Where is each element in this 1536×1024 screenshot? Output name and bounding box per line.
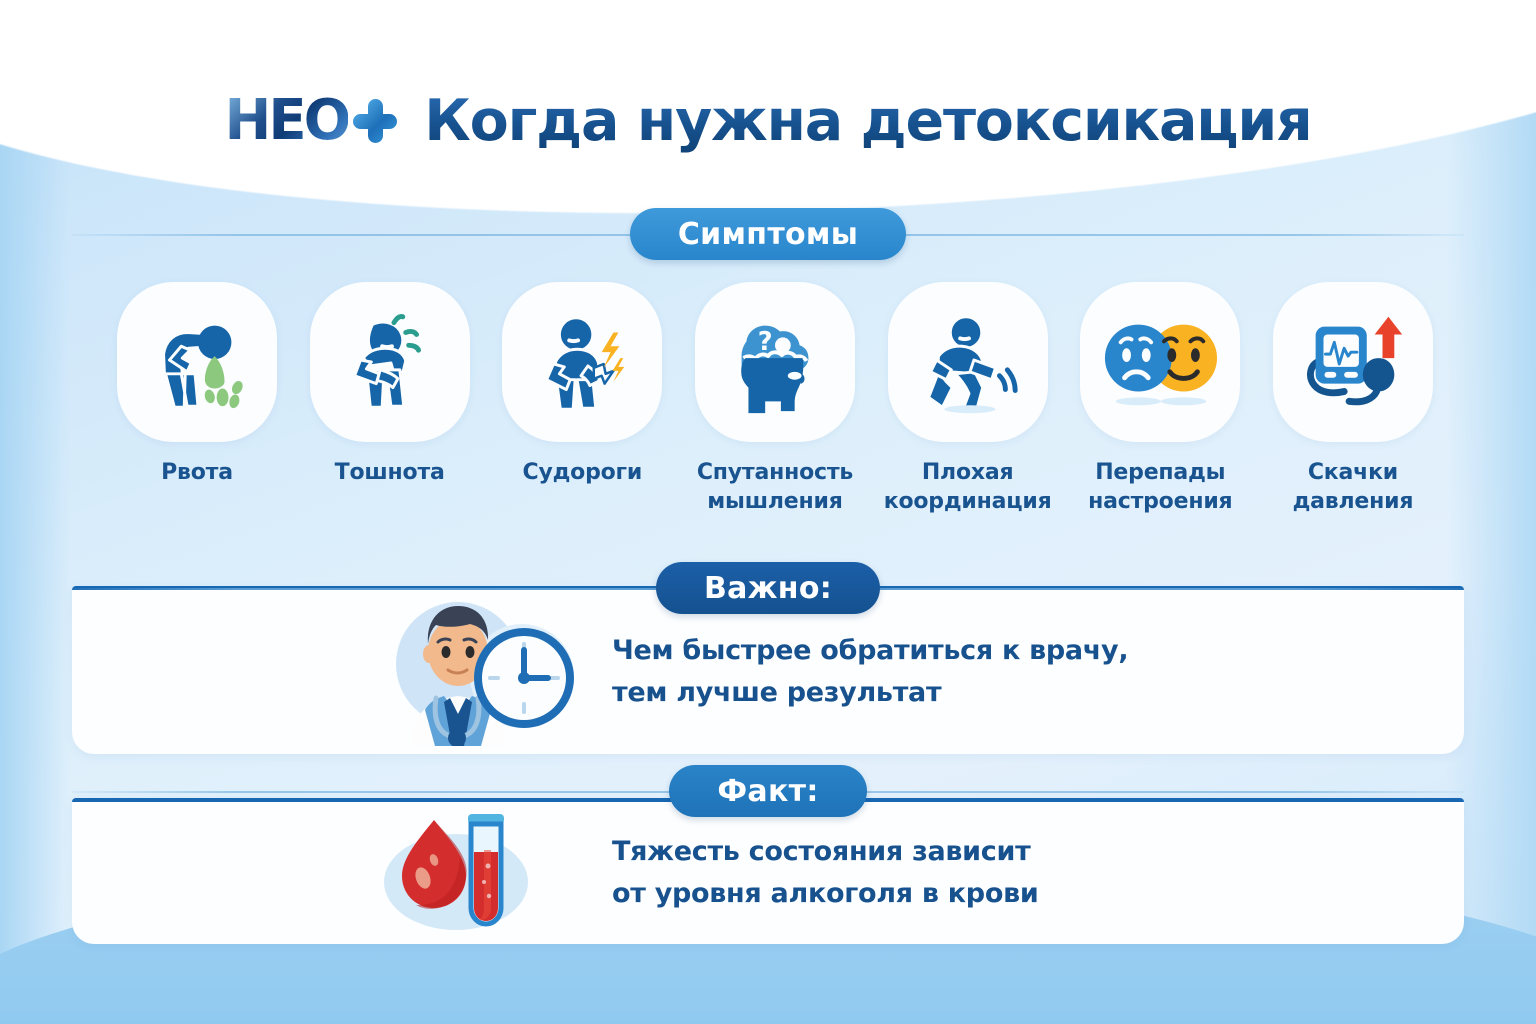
symptom-card — [888, 282, 1048, 442]
fact-panel-inner: Тяжесть состояния зависит от уровня алко… — [72, 802, 1464, 944]
brand-logo: НЕО — [225, 93, 399, 149]
symptom-label-line1: Плохая — [922, 460, 1014, 485]
symptom-item-confusion[interactable]: ? Спутанность мышления — [688, 282, 862, 516]
symptom-label-line2: настроения — [1088, 489, 1232, 514]
symptom-card — [117, 282, 277, 442]
plus-icon — [352, 98, 398, 144]
blood-pressure-monitor-icon — [1294, 303, 1412, 421]
symptom-item-coordination[interactable]: Плохая координация — [881, 282, 1055, 516]
symptom-item-vomiting[interactable]: Рвота — [110, 282, 284, 516]
symptom-label-line1: Скачки — [1308, 460, 1398, 485]
symptom-label-line2: мышления — [707, 489, 842, 514]
important-section-head: Важно: — [72, 562, 1464, 614]
symptom-item-nausea[interactable]: Тошнота — [303, 282, 477, 516]
symptoms-list: Рвота Тошнота — [110, 282, 1440, 516]
symptom-label: Тошнота — [335, 458, 445, 487]
poor-coordination-icon — [909, 303, 1027, 421]
fact-panel: Тяжесть состояния зависит от уровня алко… — [72, 798, 1464, 944]
symptom-label-line2: координация — [884, 489, 1052, 514]
important-panel-inner: Чем быстрее обратиться к врачу, тем лучш… — [72, 590, 1464, 754]
fact-text-line1: Тяжесть состояния зависит — [612, 831, 1038, 873]
symptom-item-cramps[interactable]: Судороги — [495, 282, 669, 516]
symptom-label-line1: Перепады — [1095, 460, 1225, 485]
symptom-label-line2: давления — [1293, 489, 1414, 514]
symptom-card — [1080, 282, 1240, 442]
symptom-label: Судороги — [523, 458, 643, 487]
blood-drop-test-tube-icon — [372, 804, 552, 944]
important-text: Чем быстрее обратиться к врачу, тем лучш… — [612, 630, 1128, 714]
confused-head-icon: ? — [716, 303, 834, 421]
brand-logo-text: НЕО — [225, 93, 349, 149]
svg-text:?: ? — [758, 327, 773, 357]
symptom-label: Скачки давления — [1266, 458, 1440, 516]
badge-fact: Факт: — [669, 765, 866, 817]
nausea-person-icon — [331, 303, 449, 421]
symptom-label: Рвота — [161, 458, 233, 487]
page-header: НЕО Когда нужна детоксикация — [0, 78, 1536, 164]
symptoms-section-head: Симптомы — [72, 208, 1464, 260]
fact-section-head: Факт: — [72, 765, 1464, 817]
symptom-label: Перепады настроения — [1073, 458, 1247, 516]
badge-symptoms: Симптомы — [630, 208, 906, 260]
symptom-card — [310, 282, 470, 442]
vomiting-person-icon — [138, 303, 256, 421]
symptom-card — [1273, 282, 1433, 442]
badge-important: Важно: — [656, 562, 880, 614]
important-text-line1: Чем быстрее обратиться к врачу, — [612, 630, 1128, 672]
important-text-line2: тем лучше результат — [612, 672, 1128, 714]
fact-text: Тяжесть состояния зависит от уровня алко… — [612, 831, 1038, 915]
page-title: Когда нужна детоксикация — [424, 88, 1311, 154]
fact-text-line2: от уровня алкоголя в крови — [612, 873, 1038, 915]
symptom-item-mood-swings[interactable]: Перепады настроения — [1073, 282, 1247, 516]
symptom-label: Плохая координация — [881, 458, 1055, 516]
cramps-person-icon — [523, 303, 641, 421]
symptom-card: ? — [695, 282, 855, 442]
symptom-card — [502, 282, 662, 442]
symptom-label: Спутанность мышления — [688, 458, 862, 516]
symptom-label-line1: Спутанность — [697, 460, 853, 485]
mood-swings-faces-icon — [1101, 303, 1219, 421]
symptom-item-blood-pressure[interactable]: Скачки давления — [1266, 282, 1440, 516]
